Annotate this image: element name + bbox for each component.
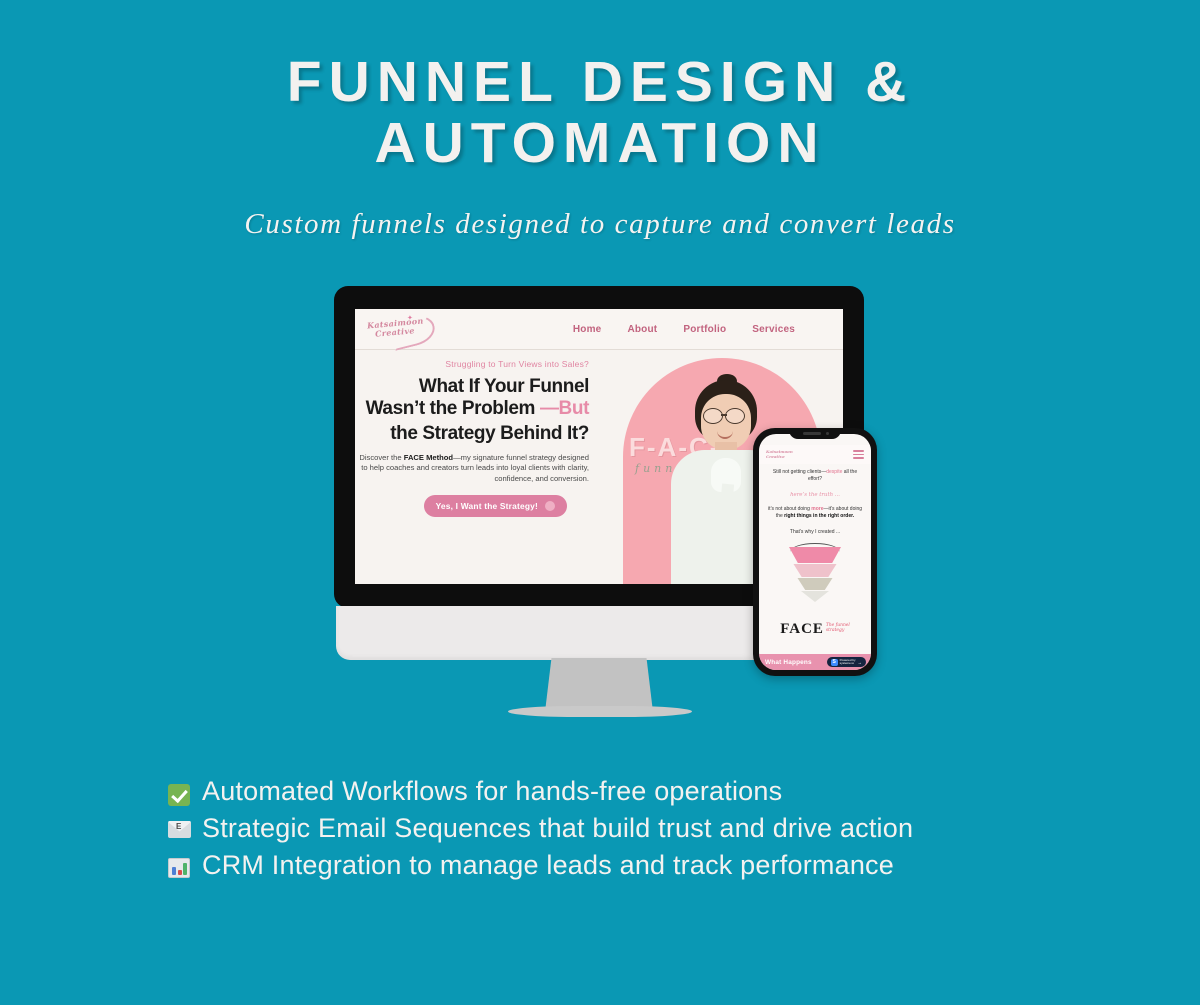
powered-by-badge[interactable]: S Powered by systeme.io → [827,657,866,667]
benefits-list: Automated Workflows for hands-free opera… [168,776,1068,887]
list-item: E Strategic Email Sequences that build t… [168,813,1068,844]
phone-line-3-accent: more [811,506,823,512]
benefit-text: Automated Workflows for hands-free opera… [202,776,782,807]
phone-front-camera [826,432,829,435]
badge-text: Powered by systeme.io [840,659,856,666]
phone-logo[interactable]: Katsaimoon Creative [766,450,793,459]
phone-face-script: The funnel strategy [826,623,850,633]
systeme-logo-icon: S [831,659,838,666]
phone-content: Still not getting clients—despite all th… [759,464,871,603]
nav-item-services[interactable]: Services [752,324,795,335]
phone-earpiece-speaker [803,432,821,435]
desktop-monitor-mockup: ✦ Katsaimoon Creative Home About Portfol… [0,0,1200,740]
badge-brand-label: systeme.io [840,661,854,665]
hero-eyebrow: Struggling to Turn Views into Sales? [355,359,589,369]
monitor-stand-base [508,706,692,717]
website-nav-links: Home About Portfolio Services [573,324,795,335]
phone-line-1-accent: despite [826,469,842,475]
phone-face-script-2: strategy [826,628,844,633]
benefit-text: Strategic Email Sequences that build tru… [202,813,913,844]
funnel-graphic [759,543,871,603]
phone-line-3-a: it’s not about doing [768,506,811,512]
badge-arrow-icon: → [858,660,863,665]
nav-item-home[interactable]: Home [573,324,602,335]
website-logo[interactable]: ✦ Katsaimoon Creative [363,314,433,344]
portrait-glasses-left [703,408,723,424]
phone-mockup: Katsaimoon Creative Still not getting cl… [753,428,877,676]
hero-copy-column: Struggling to Turn Views into Sales? Wha… [355,350,599,584]
nav-item-portfolio[interactable]: Portfolio [683,324,726,335]
phone-screen: Katsaimoon Creative Still not getting cl… [759,434,871,670]
phone-bottom-bar-label: What Happens [765,659,812,666]
email-envelope-icon: E [168,813,202,838]
portrait-glasses-right [725,408,745,424]
phone-line-3: it’s not about doing more—it’s about doi… [766,506,864,520]
phone-bottom-bar: What Happens S Powered by systeme.io → [759,654,871,670]
white-check-mark-icon [168,776,202,806]
website-navbar: ✦ Katsaimoon Creative Home About Portfol… [355,309,843,350]
hero-cta-label: Yes, I Want the Strategy! [436,501,538,511]
funnel-layer-3 [798,578,833,590]
monitor-stand-neck [545,658,653,712]
hero-heading-part-2: the Strategy Behind It? [390,423,589,444]
funnel-layer-1 [789,547,841,563]
hero-heading-accent: —But [540,398,589,419]
phone-face-logo: FACE The funnel strategy [759,620,871,638]
list-item: Automated Workflows for hands-free opera… [168,776,1068,807]
bar-chart-icon [168,850,202,878]
hero-cta-button[interactable]: Yes, I Want the Strategy! [424,495,567,517]
portrait-glasses-bridge [721,414,727,416]
hero-paragraph-bold: FACE Method [404,453,453,462]
hamburger-menu-icon[interactable] [853,449,864,461]
hero-paragraph: Discover the FACE Method—my signature fu… [355,453,589,485]
hero-paragraph-lead: Discover the [359,453,403,462]
funnel-layer-4 [801,591,829,602]
hero-heading: What If Your Funnel Wasn’t the Problem —… [355,376,589,445]
nav-item-about[interactable]: About [627,324,657,335]
phone-line-4: That’s why I created ... [766,529,864,535]
phone-line-1: Still not getting clients—despite all th… [766,469,864,483]
phone-line-3-bold: right things in the right order. [784,513,854,519]
phone-line-2: here’s the truth ... [766,492,864,498]
list-item: CRM Integration to manage leads and trac… [168,850,1068,881]
benefit-text: CRM Integration to manage leads and trac… [202,850,894,881]
phone-face-word: FACE [780,621,824,637]
phone-logo-line-2: Creative [766,455,793,460]
hero-cta-arrow-icon [545,501,555,511]
phone-navbar: Katsaimoon Creative [759,445,871,464]
phone-line-1-a: Still not getting clients— [773,469,826,475]
funnel-layer-2 [794,564,837,577]
